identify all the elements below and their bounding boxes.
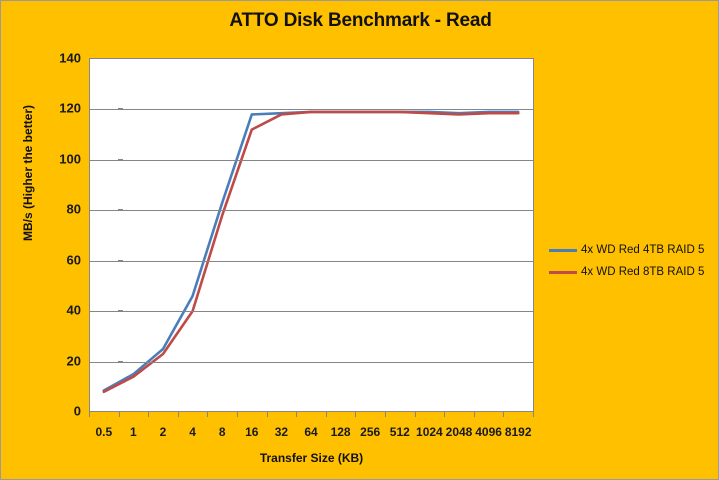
- y-axis-tick-label: 60: [37, 252, 81, 267]
- series-lines: [89, 59, 533, 412]
- legend-color-swatch: [549, 271, 577, 274]
- x-axis-tick-mark: [119, 412, 120, 417]
- x-axis-tick-mark: [533, 412, 534, 417]
- y-axis-tick-mark: [118, 108, 123, 109]
- x-axis-tick-mark: [474, 412, 475, 417]
- y-axis-line: [89, 58, 90, 412]
- x-axis-tick-mark: [355, 412, 356, 417]
- x-axis-tick-mark: [178, 412, 179, 417]
- x-axis-tick-mark: [237, 412, 238, 417]
- y-axis-tick-label: 0: [37, 404, 81, 419]
- y-axis-tick-mark: [118, 58, 123, 59]
- x-axis-title: Transfer Size (KB): [89, 451, 534, 465]
- y-axis-tick-mark: [118, 361, 123, 362]
- x-axis-tick-mark: [207, 412, 208, 417]
- y-axis-tick-label: 140: [37, 51, 81, 66]
- legend-label: 4x WD Red 8TB RAID 5: [581, 266, 704, 278]
- y-axis-tick-mark: [118, 260, 123, 261]
- gridline: [89, 160, 533, 161]
- legend-item[interactable]: 4x WD Red 8TB RAID 5: [549, 261, 717, 283]
- legend-color-swatch: [549, 249, 577, 252]
- chart-legend: 4x WD Red 4TB RAID 54x WD Red 8TB RAID 5: [549, 239, 717, 283]
- x-axis-tick-mark: [148, 412, 149, 417]
- x-axis-line: [89, 411, 534, 412]
- gridline: [89, 261, 533, 262]
- y-axis-ticks: 020406080100120140: [35, 1, 81, 480]
- y-axis-tick-label: 40: [37, 303, 81, 318]
- x-axis-tick-mark: [385, 412, 386, 417]
- plot-area: [89, 58, 534, 412]
- y-axis-tick-mark: [118, 310, 123, 311]
- series-line: [104, 112, 518, 392]
- x-axis-tick-label: 8192: [495, 425, 541, 439]
- y-axis-tick-label: 20: [37, 353, 81, 368]
- gridline: [89, 362, 533, 363]
- legend-label: 4x WD Red 4TB RAID 5: [581, 244, 704, 256]
- x-axis-tick-mark: [503, 412, 504, 417]
- y-axis-tick-label: 120: [37, 101, 81, 116]
- x-axis-tick-mark: [415, 412, 416, 417]
- chart-title: ATTO Disk Benchmark - Read: [1, 10, 719, 32]
- legend-item[interactable]: 4x WD Red 4TB RAID 5: [549, 239, 717, 261]
- y-axis-tick-mark: [118, 209, 123, 210]
- y-axis-tick-label: 80: [37, 202, 81, 217]
- x-axis-tick-mark: [267, 412, 268, 417]
- y-axis-tick-mark: [118, 159, 123, 160]
- gridline: [89, 311, 533, 312]
- gridline: [89, 109, 533, 110]
- chart-container: ATTO Disk Benchmark - Read 0204060801001…: [0, 0, 719, 480]
- y-axis-tick-label: 100: [37, 151, 81, 166]
- x-axis-tick-mark: [444, 412, 445, 417]
- gridline: [89, 210, 533, 211]
- x-axis-tick-mark: [89, 412, 90, 417]
- x-axis-tick-mark: [296, 412, 297, 417]
- x-axis-tick-mark: [326, 412, 327, 417]
- y-axis-title: MB/s (Higher the better): [21, 93, 35, 253]
